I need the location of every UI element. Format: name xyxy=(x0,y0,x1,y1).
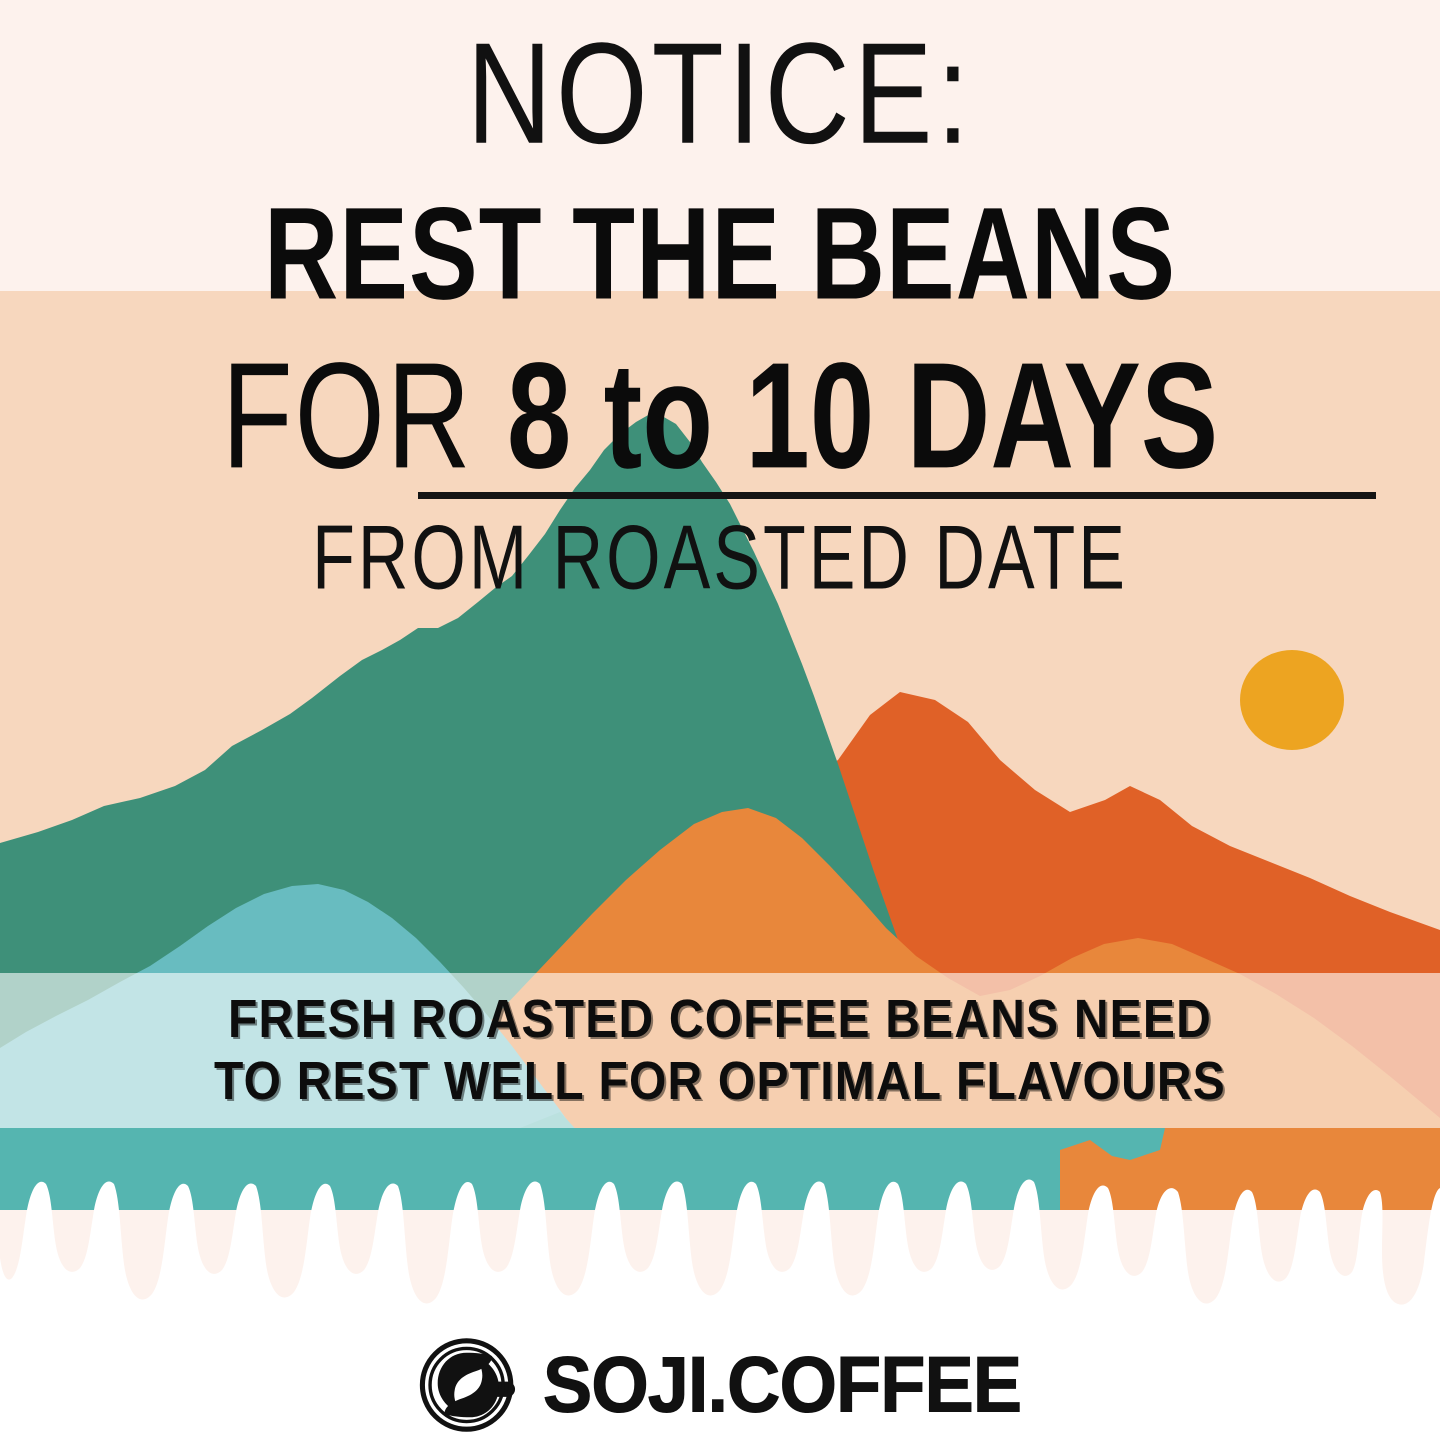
info-banner: FRESH ROASTED COFFEE BEANS NEED TO REST … xyxy=(0,973,1440,1128)
duration-block: FOR 8 to 10 DAYS FROM ROASTED DATE xyxy=(0,340,1440,456)
duration-subtext: FROM ROASTED DATE xyxy=(0,512,1440,603)
coffee-cup-bean-icon xyxy=(419,1334,521,1436)
brand-logo: SOJI.COFFEE xyxy=(0,1330,1440,1440)
headline-block: NOTICE: REST THE BEANS xyxy=(0,0,1440,282)
brand-name: SOJI.COFFEE xyxy=(543,1346,1021,1424)
info-banner-line-1: FRESH ROASTED COFFEE BEANS NEED xyxy=(228,985,1212,1054)
page-title: REST THE BEANS xyxy=(7,136,1433,320)
duration-divider xyxy=(418,492,1376,499)
duration-emphasis: 8 to 10 DAYS xyxy=(507,331,1218,500)
duration-headline: FOR 8 to 10 DAYS xyxy=(0,340,1440,491)
duration-prefix: FOR xyxy=(222,331,507,500)
info-banner-line-2: TO REST WELL FOR OPTIMAL FLAVOURS xyxy=(214,1047,1226,1116)
poster-canvas: NOTICE: REST THE BEANS FOR 8 to 10 DAYS … xyxy=(0,0,1440,1440)
sun-icon xyxy=(1240,650,1344,750)
